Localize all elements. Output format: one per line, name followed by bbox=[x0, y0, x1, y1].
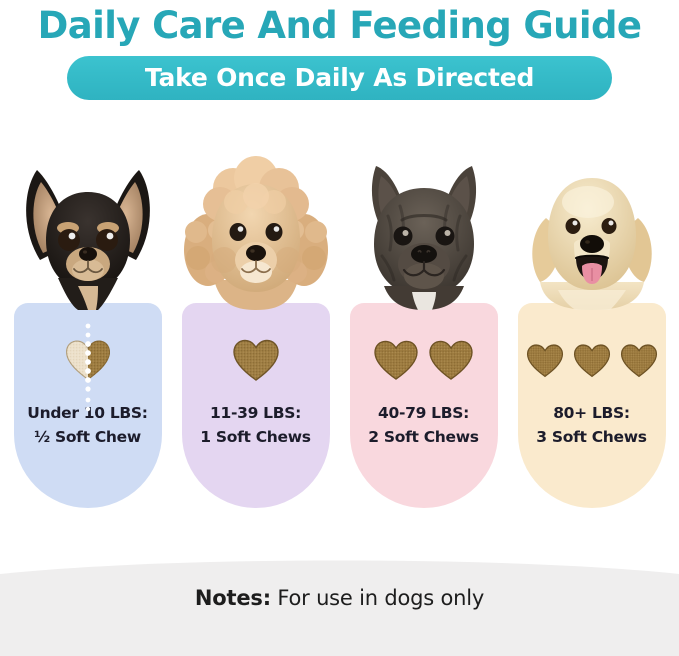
dosage-label-1: Under 10 LBS: ½ Soft Chew bbox=[14, 401, 162, 449]
dosage-card-2: 11-39 LBS: 1 Soft Chews bbox=[182, 303, 330, 508]
weight-range-3: 40-79 LBS: bbox=[378, 404, 469, 422]
notes-line: Notes: For use in dogs only bbox=[0, 584, 679, 612]
page-title: Daily Care And Feeding Guide bbox=[0, 0, 679, 48]
toy-poodle-icon bbox=[178, 140, 334, 310]
weight-range-4: 80+ LBS: bbox=[553, 404, 630, 422]
half-heart-icon bbox=[64, 338, 112, 382]
weight-range-2: 11-39 LBS: bbox=[210, 404, 301, 422]
heart-icon bbox=[428, 339, 474, 381]
dosage-card-1: Under 10 LBS: ½ Soft Chew bbox=[14, 303, 162, 508]
header: Daily Care And Feeding Guide Take Once D… bbox=[0, 0, 679, 100]
heart-icon bbox=[373, 339, 419, 381]
dosage-column-4: 80+ LBS: 3 Soft Chews bbox=[512, 140, 672, 540]
chew-row-4 bbox=[518, 331, 666, 389]
soft-chew-whole bbox=[428, 339, 474, 381]
soft-chew-half bbox=[64, 338, 112, 382]
dog-photo-golden-retriever bbox=[512, 140, 672, 310]
dosage-column-2: 11-39 LBS: 1 Soft Chews bbox=[176, 140, 336, 540]
soft-chew-whole bbox=[573, 343, 611, 378]
chew-row-3 bbox=[350, 331, 498, 389]
dosage-columns: Under 10 LBS: ½ Soft Chew bbox=[0, 140, 679, 540]
dog-photo-french-bulldog bbox=[344, 140, 504, 310]
dosage-column-3: 40-79 LBS: 2 Soft Chews bbox=[344, 140, 504, 540]
heart-icon bbox=[620, 343, 658, 378]
dose-amount-3: 2 Soft Chews bbox=[350, 425, 498, 449]
dosage-label-4: 80+ LBS: 3 Soft Chews bbox=[518, 401, 666, 449]
chihuahua-icon bbox=[10, 140, 166, 310]
dosage-column-1: Under 10 LBS: ½ Soft Chew bbox=[8, 140, 168, 540]
soft-chew-whole bbox=[232, 338, 280, 382]
dosage-label-3: 40-79 LBS: 2 Soft Chews bbox=[350, 401, 498, 449]
dose-amount-4: 3 Soft Chews bbox=[518, 425, 666, 449]
dosage-card-3: 40-79 LBS: 2 Soft Chews bbox=[350, 303, 498, 508]
take-once-daily-badge: Take Once Daily As Directed bbox=[67, 56, 612, 100]
footer: Notes: For use in dogs only bbox=[0, 556, 679, 656]
french-bulldog-icon bbox=[346, 140, 502, 310]
weight-range-1: Under 10 LBS: bbox=[27, 404, 147, 422]
dose-amount-1: ½ Soft Chew bbox=[14, 425, 162, 449]
chew-row-1 bbox=[14, 331, 162, 389]
notes-label: Notes: bbox=[195, 586, 271, 610]
soft-chew-whole bbox=[526, 343, 564, 378]
heart-icon bbox=[526, 343, 564, 378]
dog-photo-toy-poodle bbox=[176, 140, 336, 310]
heart-icon bbox=[573, 343, 611, 378]
soft-chew-whole bbox=[620, 343, 658, 378]
feeding-guide-infographic: Daily Care And Feeding Guide Take Once D… bbox=[0, 0, 679, 656]
dosage-label-2: 11-39 LBS: 1 Soft Chews bbox=[182, 401, 330, 449]
badge-container: Take Once Daily As Directed bbox=[0, 56, 679, 100]
chew-row-2 bbox=[182, 331, 330, 389]
soft-chew-whole bbox=[373, 339, 419, 381]
golden-retriever-icon bbox=[514, 140, 670, 310]
dog-photo-chihuahua bbox=[8, 140, 168, 310]
dosage-card-4: 80+ LBS: 3 Soft Chews bbox=[518, 303, 666, 508]
heart-icon bbox=[232, 338, 280, 382]
dose-amount-2: 1 Soft Chews bbox=[182, 425, 330, 449]
notes-text: For use in dogs only bbox=[277, 586, 484, 610]
